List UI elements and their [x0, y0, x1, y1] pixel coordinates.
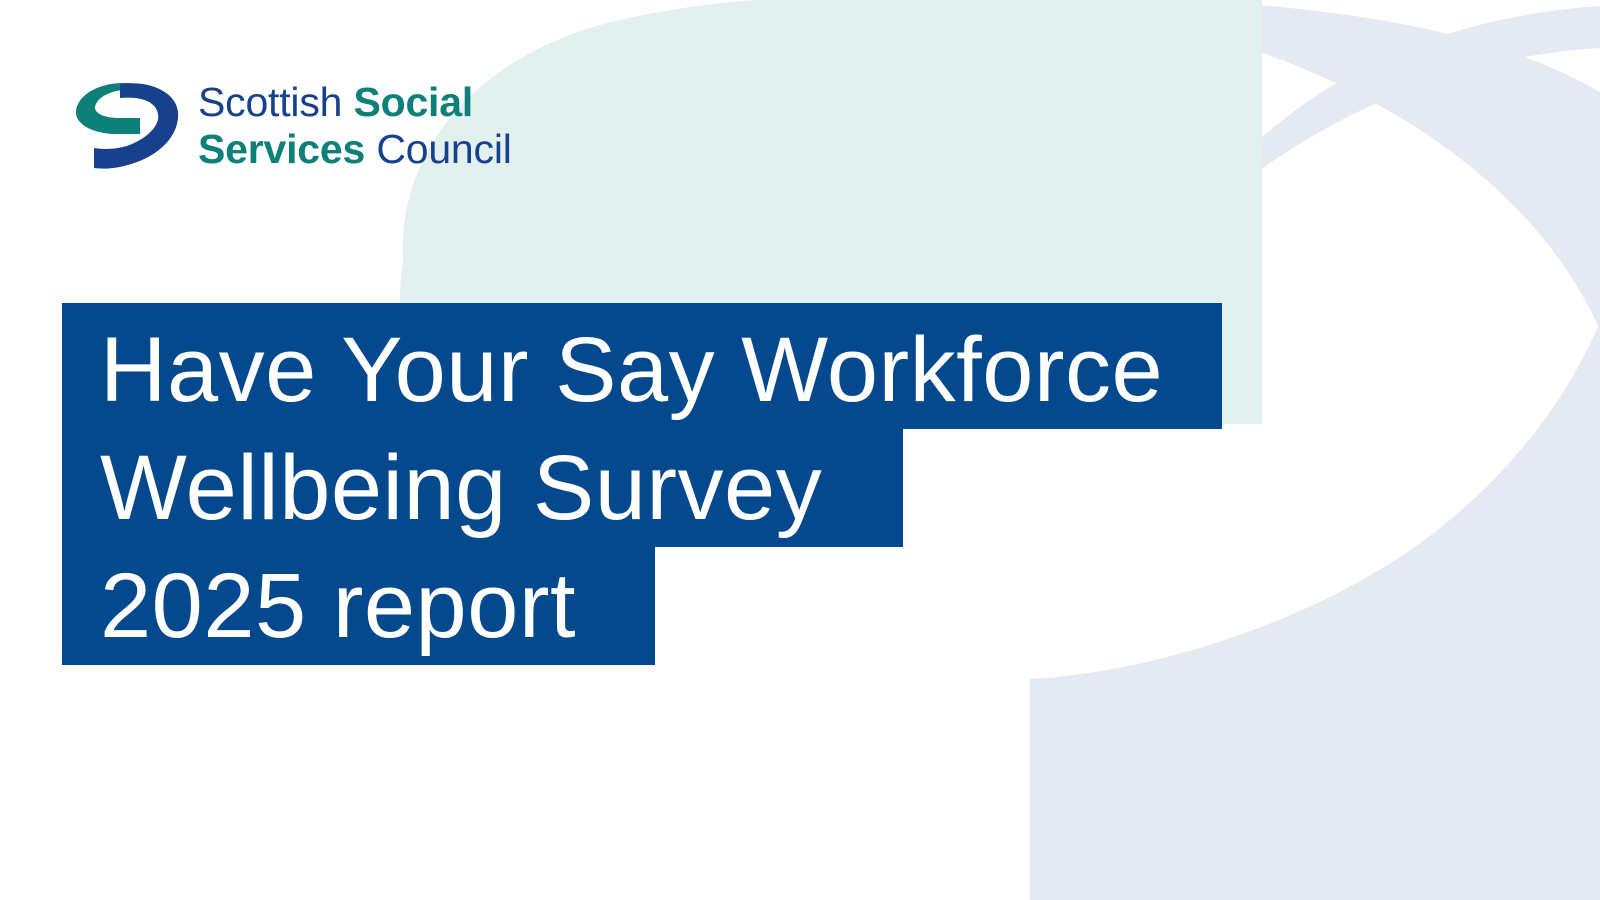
wordmark-social: Social — [353, 79, 473, 125]
ssc-wordmark: Scottish Social Services Council — [198, 82, 512, 170]
title-slide: Scottish Social Services Council Have Yo… — [0, 0, 1600, 900]
title-line-2: Wellbeing Survey — [62, 429, 903, 547]
ssc-s-swoosh-logo-mark-icon — [72, 78, 180, 174]
page-title: Have Your Say Workforce Wellbeing Survey… — [62, 303, 1222, 665]
top-right-swoosh-shape — [1032, 0, 1600, 250]
wordmark-council: Council — [376, 126, 511, 172]
wordmark-services: Services — [198, 126, 365, 172]
title-line-3: 2025 report — [62, 547, 655, 665]
ssc-logo: Scottish Social Services Council — [72, 78, 512, 174]
top-right-swoosh-arc — [1032, 0, 1600, 330]
wordmark-scottish: Scottish — [198, 79, 342, 125]
wordmark-line-2: Services Council — [198, 129, 512, 170]
wordmark-line-1: Scottish Social — [198, 82, 512, 123]
title-line-1: Have Your Say Workforce — [62, 303, 1222, 429]
